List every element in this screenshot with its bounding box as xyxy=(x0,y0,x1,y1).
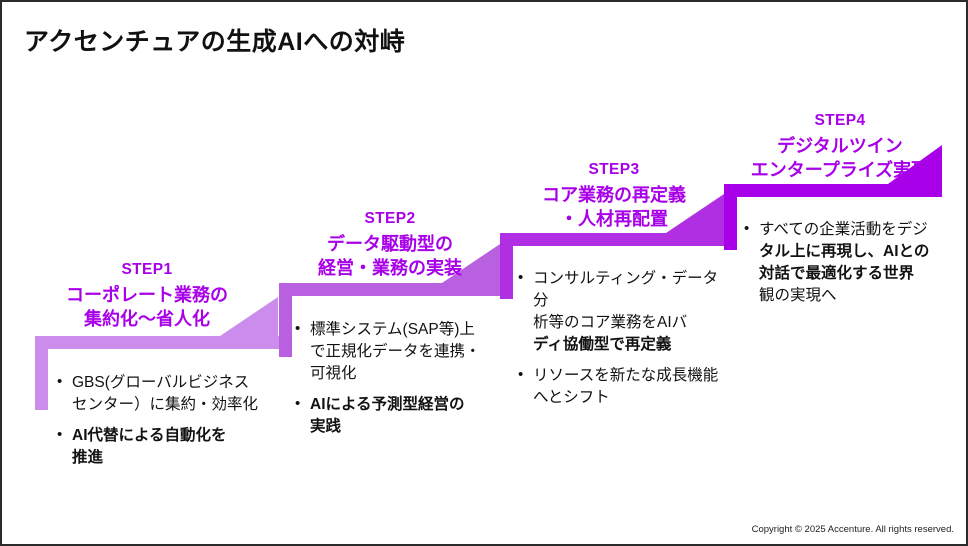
step-4-heading: デジタルツイン エンタープライズ実現 xyxy=(740,135,940,183)
step-3-tread xyxy=(500,233,732,246)
step-4-bullet-1-line-4: 観の実現へ xyxy=(759,285,949,307)
step-4-heading-line-2: エンタープライズ実現 xyxy=(740,159,940,183)
step-3-bullets: コンサルティング・データ分 析等のコア業務をAIバ ディ協働型で再定義 リソース… xyxy=(518,268,733,418)
step-3-label: STEP3 コア業務の再定義 ・人材再配置 xyxy=(514,160,714,232)
step-1-heading-line-2: 集約化～省人化 xyxy=(42,308,252,332)
step-1-tread xyxy=(35,336,287,349)
list-item: リソースを新たな成長機能 へとシフト xyxy=(518,365,733,409)
step-2-number: STEP2 xyxy=(290,209,490,229)
copyright-footer: Copyright © 2025 Accenture. All rights r… xyxy=(752,524,954,535)
slide-canvas: アクセンチュアの生成AIへの対峙 STEP1 コーポレート業務の 集約化～省人化… xyxy=(0,0,968,546)
step-3-bullet-1-line-2: 析等のコア業務をAIバ xyxy=(533,312,733,334)
step-3-heading-line-1: コア業務の再定義 xyxy=(514,184,714,208)
list-item: GBS(グローバルビジネス センター）に集約・効率化 xyxy=(57,372,272,416)
step-1-number: STEP1 xyxy=(42,260,252,280)
step-1-bullet-1-line-2: センター）に集約・効率化 xyxy=(72,394,272,416)
step-2-tread xyxy=(279,283,509,296)
step-1-bullet-1-line-1: GBS(グローバルビジネス xyxy=(72,372,272,394)
step-2-heading-line-2: 経営・業務の実装 xyxy=(290,257,490,281)
list-item: AI代替による自動化を 推進 xyxy=(57,425,272,469)
step-3-bullet-2-line-2: へとシフト xyxy=(533,387,733,409)
step-4-bullet-1-line-1: すべての企業活動をデジ xyxy=(759,219,949,241)
step-1-bullet-2-line-1: AI代替による自動化を xyxy=(72,425,272,447)
step-3-heading: コア業務の再定義 ・人材再配置 xyxy=(514,184,714,232)
step-1-label: STEP1 コーポレート業務の 集約化～省人化 xyxy=(42,260,252,332)
step-2-bullet-2-line-2: 実践 xyxy=(310,416,505,438)
step-3-number: STEP3 xyxy=(514,160,714,180)
list-item: コンサルティング・データ分 析等のコア業務をAIバ ディ協働型で再定義 xyxy=(518,268,733,356)
list-item: AIによる予測型経営の 実践 xyxy=(295,394,505,438)
step-2-heading-line-1: データ駆動型の xyxy=(290,233,490,257)
list-item: すべての企業活動をデジ タル上に再現し、AIとの 対話で最適化する世界 観の実現… xyxy=(744,219,949,307)
step-3-bullet-2-line-1: リソースを新たな成長機能 xyxy=(533,365,733,387)
step-2-bullet-1-line-1: 標準システム(SAP等)上 xyxy=(310,319,505,341)
step-3-bullet-1-line-3: ディ協働型で再定義 xyxy=(533,334,733,356)
step-1-heading: コーポレート業務の 集約化～省人化 xyxy=(42,284,252,332)
step-4-tread xyxy=(724,184,942,197)
step-4-heading-line-1: デジタルツイン xyxy=(740,135,940,159)
step-3-riser xyxy=(500,233,513,299)
step-1-bullets: GBS(グローバルビジネス センター）に集約・効率化 AI代替による自動化を 推… xyxy=(57,372,272,478)
step-1-heading-line-1: コーポレート業務の xyxy=(42,284,252,308)
step-2-bullet-1-line-3: 可視化 xyxy=(310,363,505,385)
step-4-riser xyxy=(724,184,737,250)
page-title: アクセンチュアの生成AIへの対峙 xyxy=(24,22,405,58)
step-2-bullets: 標準システム(SAP等)上 で正規化データを連携・ 可視化 AIによる予測型経営… xyxy=(295,319,505,447)
step-1-bullet-2-line-2: 推進 xyxy=(72,447,272,469)
step-2-bullet-2-line-1: AIによる予測型経営の xyxy=(310,394,505,416)
step-4-label: STEP4 デジタルツイン エンタープライズ実現 xyxy=(740,111,940,183)
step-2-riser xyxy=(279,283,292,357)
step-2-label: STEP2 データ駆動型の 経営・業務の実装 xyxy=(290,209,490,281)
list-item: 標準システム(SAP等)上 で正規化データを連携・ 可視化 xyxy=(295,319,505,385)
step-4-bullet-1-line-3: 対話で最適化する世界 xyxy=(759,263,949,285)
step-4-bullet-1-line-2: タル上に再現し、AIとの xyxy=(759,241,949,263)
step-2-bullet-1-line-2: で正規化データを連携・ xyxy=(310,341,505,363)
step-2-heading: データ駆動型の 経営・業務の実装 xyxy=(290,233,490,281)
step-3-bullet-1-line-1: コンサルティング・データ分 xyxy=(533,268,733,312)
step-4-bullets: すべての企業活動をデジ タル上に再現し、AIとの 対話で最適化する世界 観の実現… xyxy=(744,219,949,316)
step-3-heading-line-2: ・人材再配置 xyxy=(514,208,714,232)
step-4-number: STEP4 xyxy=(740,111,940,131)
step-1-riser xyxy=(35,336,48,410)
